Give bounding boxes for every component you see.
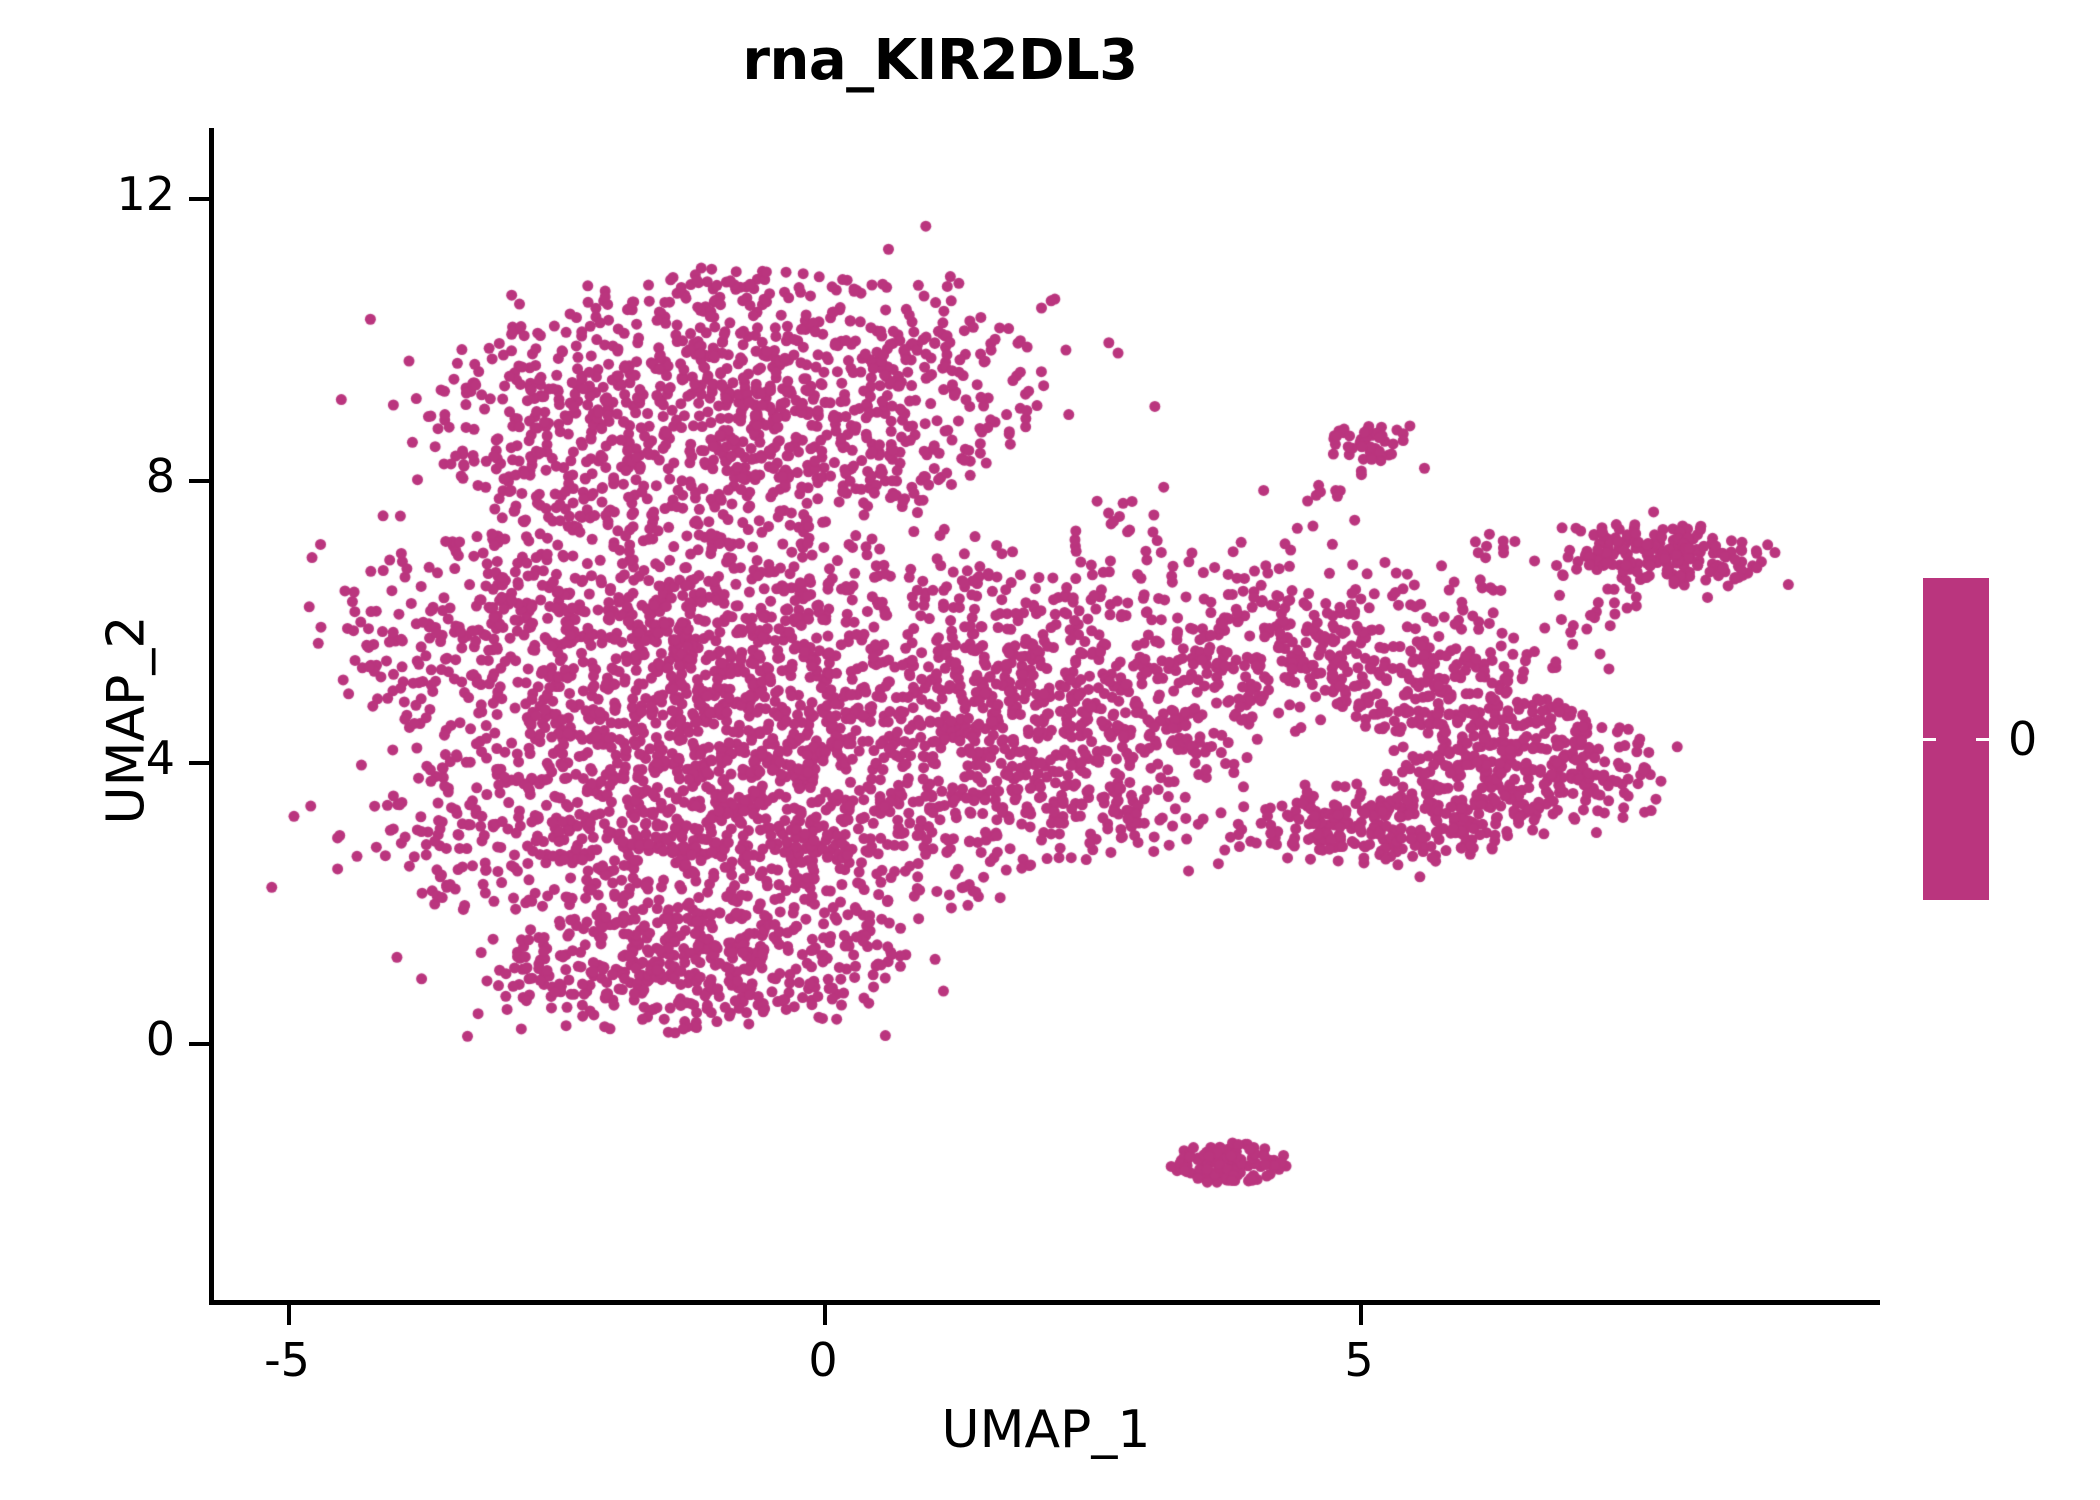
y-axis-label: UMAP_2 [97, 134, 157, 1307]
y-tick-mark-12 [189, 197, 209, 201]
x-axis-label: UMAP_1 [212, 1400, 1880, 1460]
colorbar-tick-left [1923, 738, 1936, 741]
x-axis-spine [209, 1300, 1880, 1305]
colorbar-tick-right [1976, 738, 1989, 741]
colorbar-tick-label-0: 0 [2008, 712, 2037, 766]
y-tick-mark-8 [189, 479, 209, 483]
y-tick-mark-0 [189, 1042, 209, 1046]
plot-axes-area [212, 130, 1880, 1303]
figure-root: rna_KIR2DL3 0 4 8 12 -5 0 5 UMAP_1 UMAP_… [0, 0, 2100, 1500]
scatter-plot-canvas [212, 130, 1880, 1303]
x-tick-label-0: 0 [808, 1333, 837, 1387]
colorbar [1923, 578, 1989, 900]
x-tick-label-5: 5 [1344, 1333, 1373, 1387]
x-tick-mark-5 [1359, 1305, 1363, 1325]
page-title: rna_KIR2DL3 [0, 28, 1880, 93]
y-axis-spine [209, 128, 214, 1305]
x-tick-mark-minus5 [287, 1305, 291, 1325]
x-tick-mark-0 [823, 1305, 827, 1325]
y-tick-mark-4 [189, 761, 209, 765]
x-tick-label-minus5: -5 [264, 1333, 310, 1387]
